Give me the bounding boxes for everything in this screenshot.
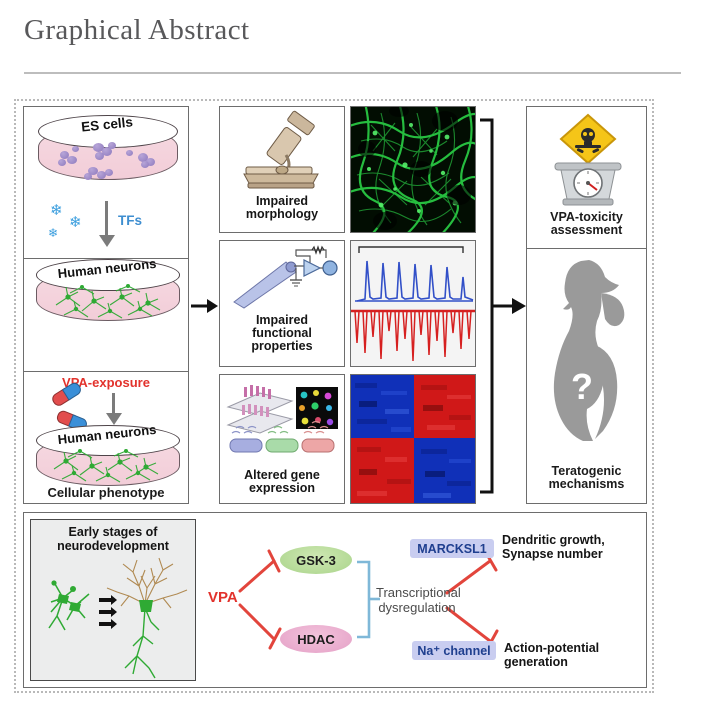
transcriptional-dysregulation-label: Transcriptional dysregulation	[376, 586, 458, 616]
na-channel-label: Na⁺ channel	[417, 643, 490, 658]
cellular-phenotype-column: ES cells	[23, 106, 189, 504]
traces-render	[351, 241, 476, 367]
marcksl1-label: MARCKSL1	[417, 542, 486, 556]
green-neuron-network-render	[351, 107, 476, 233]
pregnant-silhouette-icon: ?	[541, 253, 635, 453]
patch-clamp-icon	[226, 246, 342, 308]
impaired-function-caption: Impaired functional properties	[220, 314, 344, 353]
virus-particle-icon: ❄	[48, 227, 58, 239]
bracket-to-outcomes	[478, 118, 528, 498]
caption-line: Dendritic growth,	[502, 533, 605, 547]
arrow-head	[106, 413, 122, 425]
caption-line: properties	[220, 340, 344, 353]
caption-line: Transcriptional	[376, 586, 458, 601]
arrow-shaft	[105, 201, 108, 237]
caption-line: Action-potential	[504, 641, 599, 655]
gsk3-label: GSK-3	[296, 553, 336, 568]
toxicity-scale-icon	[547, 113, 629, 209]
hdac-label: HDAC	[297, 632, 335, 647]
impaired-morphology-box: Impaired morphology	[219, 106, 345, 233]
hdac-node: HDAC	[280, 625, 352, 653]
altered-expression-caption: Altered gene expression	[220, 469, 344, 495]
virus-particle-icon: ❄	[50, 203, 63, 218]
dendritic-growth-outcome: Dendritic growth, Synapse number	[502, 533, 605, 562]
divider	[24, 371, 188, 372]
vpa-exposure-label: VPA-exposure	[24, 375, 188, 390]
divider	[527, 248, 646, 249]
title-divider	[24, 72, 681, 74]
teratogenic-caption: Teratogenic mechanisms	[527, 465, 646, 492]
arrow-left-to-middle	[191, 298, 219, 314]
data-image-column	[350, 106, 476, 504]
caption-line: morphology	[220, 208, 344, 221]
top-section: ES cells	[23, 106, 647, 504]
outcome-column: VPA-toxicity assessment ? Teratogenic me…	[526, 106, 647, 504]
vpa-label: VPA	[208, 589, 238, 606]
heatmap-image	[350, 374, 476, 504]
na-channel-chip: Na⁺ channel	[412, 641, 496, 660]
altered-expression-box: Altered gene expression	[219, 374, 345, 504]
caption-line: mechanisms	[527, 478, 646, 491]
microarray-icon	[226, 381, 340, 465]
virus-particle-icon: ❄	[69, 215, 82, 230]
clustering-heatmap-render	[351, 375, 476, 504]
page-title: Graphical Abstract	[24, 14, 249, 47]
immunofluorescence-image	[350, 106, 476, 233]
caption-line: VPA-toxicity	[527, 211, 646, 224]
impaired-function-box: Impaired functional properties	[219, 240, 345, 367]
arrow-shaft	[112, 393, 115, 415]
vpa-exposure-transition: VPA-exposure	[24, 375, 188, 427]
question-mark: ?	[571, 366, 593, 407]
caption-line: Synapse number	[502, 547, 605, 561]
caption-line: dysregulation	[376, 601, 458, 616]
cellular-phenotype-caption: Cellular phenotype	[24, 486, 188, 500]
caption-line: Teratogenic	[527, 465, 646, 478]
caption-line: assessment	[527, 224, 646, 237]
marcksl1-chip: MARCKSL1	[410, 539, 494, 558]
graphical-abstract-figure: ES cells	[14, 99, 654, 693]
mechanism-section: Early stages of neurodevelopment	[23, 512, 647, 688]
gsk3-node: GSK-3	[280, 546, 352, 574]
tfs-label: TFs	[118, 213, 142, 228]
microscope-icon	[234, 115, 334, 191]
action-potential-outcome: Action-potential generation	[504, 641, 599, 670]
human-neurons-dish-1: Human neurons	[36, 259, 178, 333]
electrophysiology-image	[350, 240, 476, 367]
es-cells-dish: ES cells	[38, 115, 176, 193]
assay-icon-column: Impaired morphology	[219, 106, 345, 504]
caption-line: generation	[504, 655, 599, 669]
caption-line: expression	[220, 482, 344, 495]
impaired-morphology-caption: Impaired morphology	[220, 195, 344, 221]
vpa-toxicity-caption: VPA-toxicity assessment	[527, 211, 646, 238]
arrow-head	[99, 235, 115, 247]
